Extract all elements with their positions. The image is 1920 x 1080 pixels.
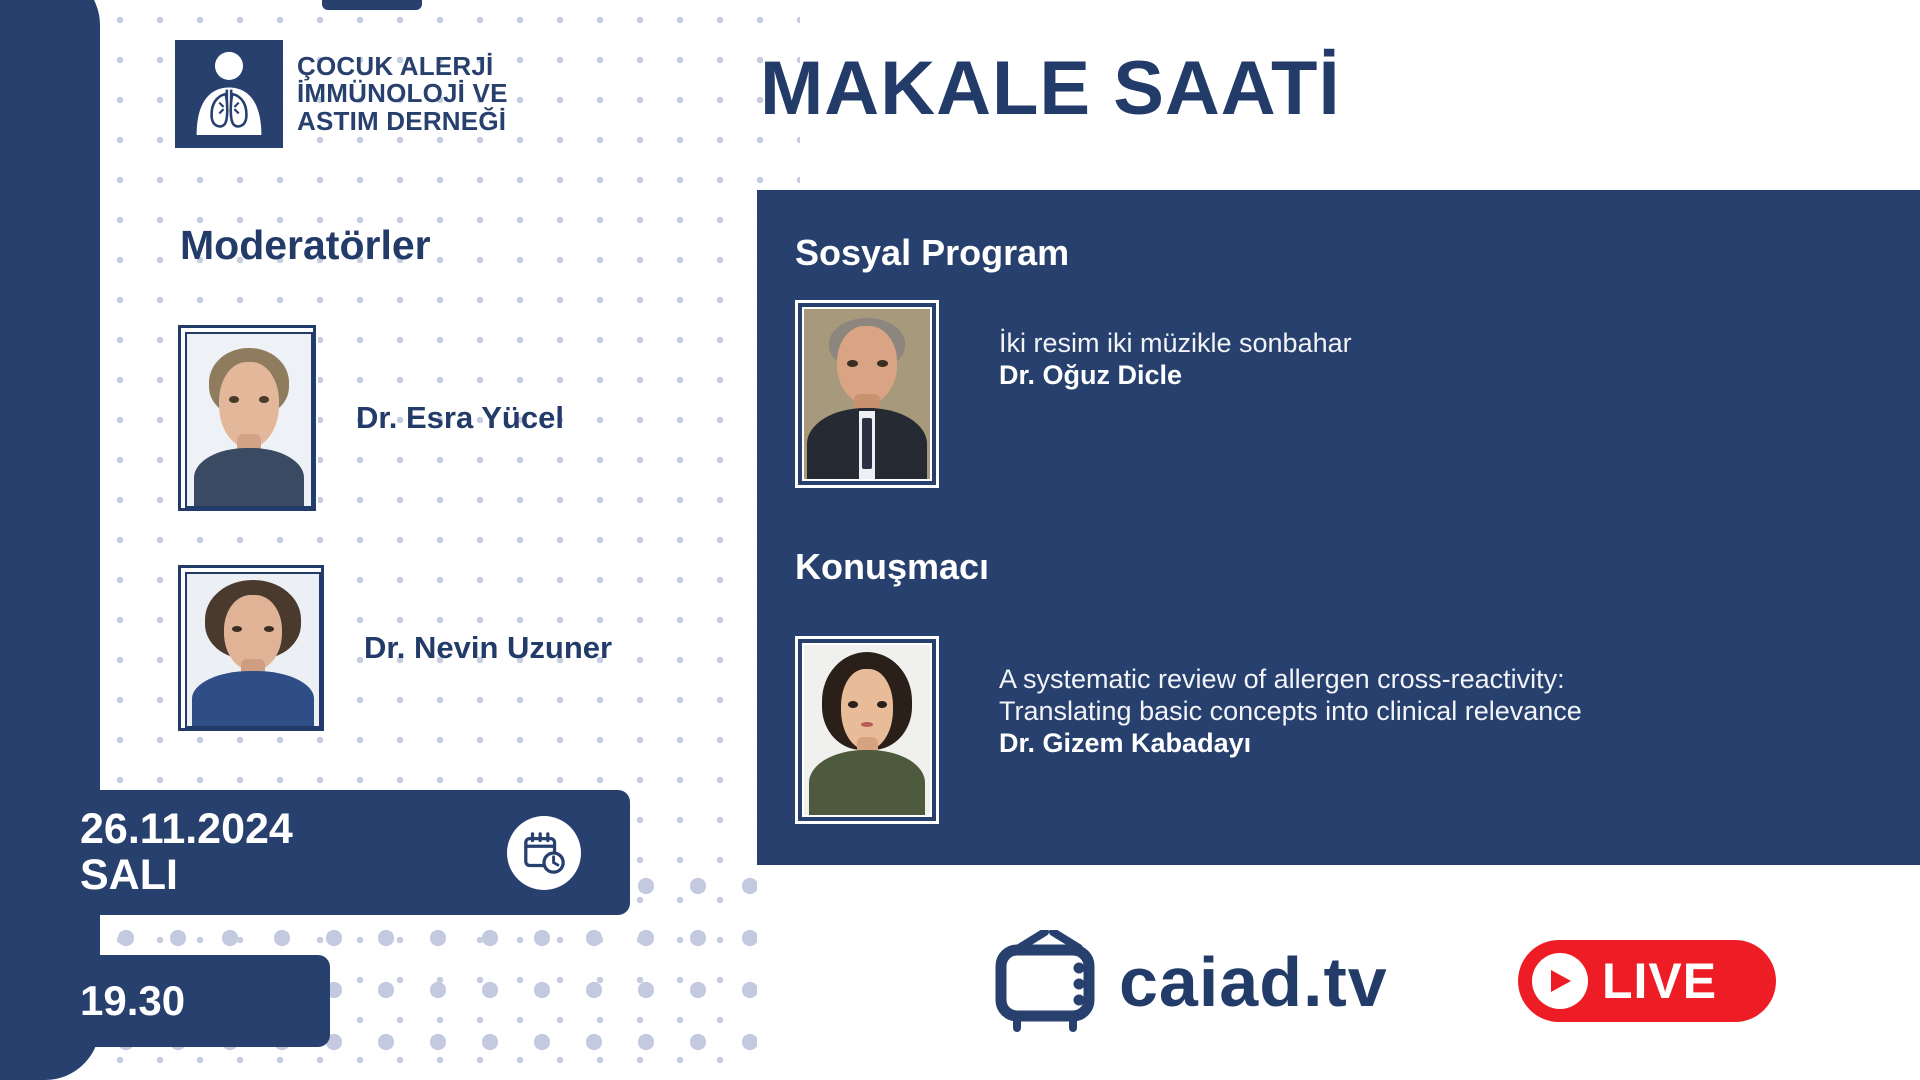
top-accent-tab xyxy=(322,0,422,10)
logo-line-3: ASTIM DERNEĞİ xyxy=(297,108,508,136)
left-accent-bar xyxy=(0,0,100,1080)
program-entry: A systematic review of allergen cross-re… xyxy=(795,636,1582,824)
entry-presenter: Dr. Gizem Kabadayı xyxy=(999,728,1582,759)
logo-line-2: İMMÜNOLOJİ VE xyxy=(297,80,508,108)
live-badge[interactable]: LIVE xyxy=(1518,940,1776,1022)
live-label: LIVE xyxy=(1602,952,1717,1010)
time-block: 19.30 xyxy=(40,955,330,1047)
moderator-photo-frame xyxy=(178,565,324,731)
portrait-gizem-kabadayi xyxy=(802,643,932,817)
moderator-name: Dr. Esra Yücel xyxy=(356,400,564,436)
date-text: 26.11.2024 SALI xyxy=(80,807,293,898)
moderator-photo-frame xyxy=(178,325,316,511)
section-heading-sosyal-program: Sosyal Program xyxy=(795,232,1069,274)
moderators-heading: Moderatörler xyxy=(180,222,431,269)
event-time: 19.30 xyxy=(80,977,185,1025)
entry-title-line-2: Translating basic concepts into clinical… xyxy=(999,696,1582,728)
event-date: 26.11.2024 xyxy=(80,807,293,853)
event-day: SALI xyxy=(80,853,293,899)
moderator-name: Dr. Nevin Uzuner xyxy=(364,630,612,666)
play-icon xyxy=(1532,953,1588,1009)
entry-presenter: Dr. Oğuz Dicle xyxy=(999,360,1352,391)
television-icon xyxy=(995,930,1113,1034)
entry-title-line-1: A systematic review of allergen cross-re… xyxy=(999,664,1582,696)
date-block: 26.11.2024 SALI xyxy=(40,790,630,915)
association-logo-text: ÇOCUK ALERJİ İMMÜNOLOJİ VE ASTIM DERNEĞİ xyxy=(297,53,508,136)
child-lungs-icon xyxy=(175,40,283,148)
entry-title: İki resim iki müzikle sonbahar xyxy=(999,328,1352,360)
calendar-clock-icon xyxy=(521,830,567,876)
caiad-tv-logo[interactable]: caiad.tv xyxy=(995,930,1388,1034)
program-entry: İki resim iki müzikle sonbahar Dr. Oğuz … xyxy=(795,300,1352,488)
caiad-tv-text: caiad.tv xyxy=(1119,942,1388,1022)
portrait-oguz-dicle xyxy=(802,307,932,481)
presenter-photo-frame xyxy=(795,636,939,824)
section-heading-konusmaci: Konuşmacı xyxy=(795,546,989,588)
calendar-clock-badge xyxy=(507,816,581,890)
presenter-photo-frame xyxy=(795,300,939,488)
moderator-row: Dr. Esra Yücel xyxy=(178,325,564,511)
page-title: MAKALE SAATİ xyxy=(760,45,1341,132)
moderator-row: Dr. Nevin Uzuner xyxy=(178,565,612,731)
association-logo: ÇOCUK ALERJİ İMMÜNOLOJİ VE ASTIM DERNEĞİ xyxy=(175,40,508,148)
portrait-nevin-uzuner xyxy=(185,572,321,728)
logo-line-1: ÇOCUK ALERJİ xyxy=(297,53,508,81)
portrait-esra-yucel xyxy=(185,332,313,508)
